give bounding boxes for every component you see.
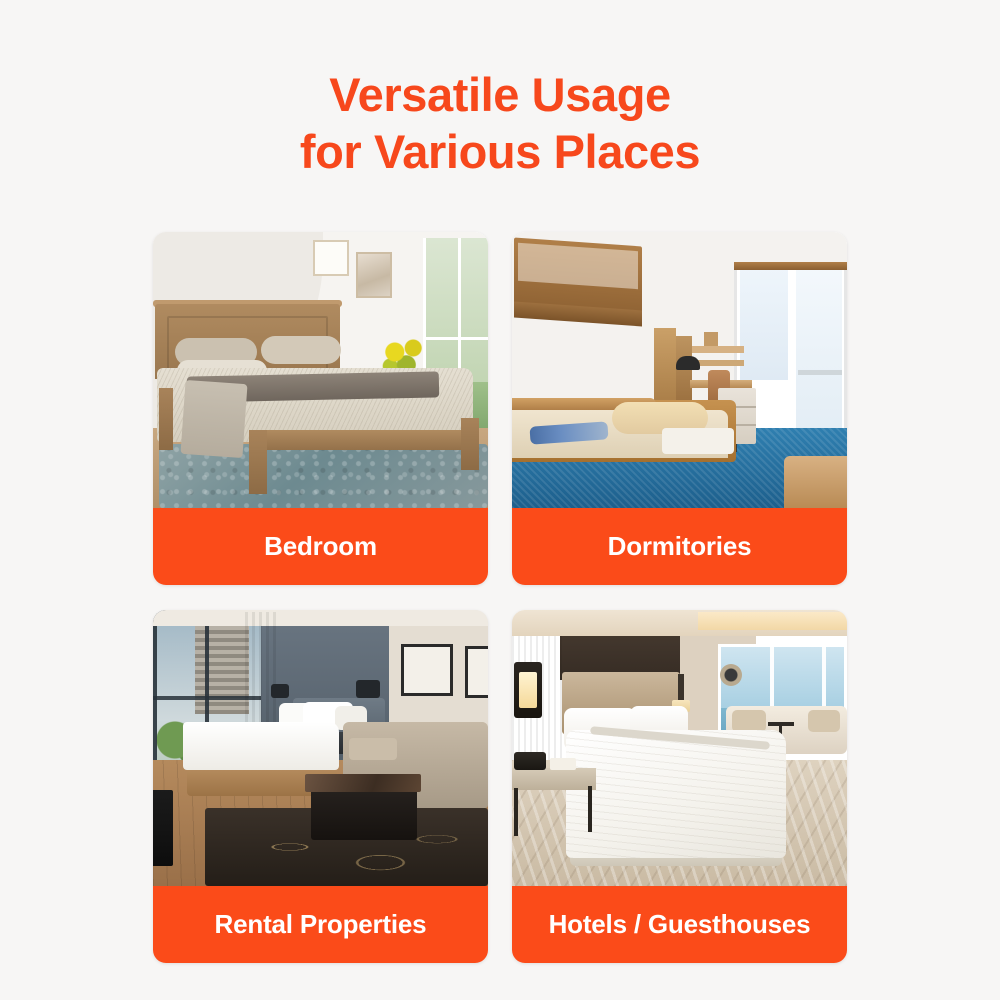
- sheet-shape: [662, 428, 734, 454]
- throw-drape-shape: [180, 380, 247, 458]
- balcony-rail-shape: [798, 370, 842, 375]
- nightstand-leg-2: [588, 786, 592, 832]
- nightstand-leg-1: [514, 788, 518, 836]
- desk-shelf-1: [692, 346, 744, 353]
- card-label-hotels-guesthouses: Hotels / Guesthouses: [549, 909, 811, 940]
- second-bed-shape: [784, 456, 847, 508]
- card-label-bar-rental-properties: Rental Properties: [153, 886, 488, 963]
- ceiling-shape: [153, 610, 488, 626]
- window-glass-shape: [740, 268, 788, 380]
- tv-cabinet-shape: [153, 790, 173, 866]
- bedding-shape: [183, 722, 339, 770]
- lamp-shade-right: [356, 680, 380, 698]
- sofa-cushion-1: [732, 710, 766, 732]
- desk-shelf-2: [698, 360, 744, 366]
- framed-art-2: [356, 252, 392, 298]
- bed-rail-shape: [249, 430, 479, 450]
- bed-leg-front: [249, 430, 267, 494]
- window-valance-shape: [734, 262, 847, 270]
- usage-card-bedroom[interactable]: Bedroom: [153, 232, 488, 585]
- nightstand-shape: [512, 768, 596, 790]
- framed-art-1: [313, 240, 349, 276]
- hotels-guesthouses-photo: [512, 610, 847, 886]
- sofa-cushion-shape: [349, 738, 397, 760]
- bedding-shape: [566, 730, 786, 858]
- card-label-bar-bedroom: Bedroom: [153, 508, 488, 585]
- page-title-line-2: for Various Places: [0, 123, 1000, 180]
- coffee-table-top: [305, 774, 421, 792]
- card-label-dormitories: Dormitories: [608, 531, 752, 562]
- card-label-rental-properties: Rental Properties: [215, 909, 427, 940]
- usage-card-dormitories[interactable]: Dormitories: [512, 232, 847, 585]
- usage-card-rental-properties[interactable]: Rental Properties: [153, 610, 488, 963]
- dormitories-photo: [512, 232, 847, 508]
- wall-clock-shape: [720, 664, 742, 686]
- desk-lamp-shape: [676, 356, 700, 370]
- balcony-door-shape: [796, 268, 842, 434]
- ceiling-cove-light-shape: [698, 612, 847, 630]
- lantern-glow-shape: [519, 672, 537, 708]
- framed-art-2: [465, 646, 488, 698]
- page-title: Versatile Usage for Various Places: [0, 66, 1000, 180]
- desk-hutch-panel-1: [654, 328, 676, 408]
- bedroom-photo: [153, 232, 488, 508]
- bed-leg-right: [461, 418, 479, 470]
- desk-box-shape: [704, 332, 718, 346]
- rental-properties-photo: [153, 610, 488, 886]
- framed-art-1: [401, 644, 453, 696]
- usage-card-hotels-guesthouses[interactable]: Hotels / Guesthouses: [512, 610, 847, 963]
- card-label-bar-dormitories: Dormitories: [512, 508, 847, 585]
- usage-card-grid: Bedroom: [153, 232, 847, 955]
- bed-leg-left: [159, 388, 173, 450]
- card-label-bedroom: Bedroom: [264, 531, 377, 562]
- telephone-shape: [514, 752, 546, 770]
- pillow-2: [261, 336, 341, 364]
- lamp-shade-left: [271, 684, 289, 698]
- sofa-cushion-2: [808, 710, 840, 732]
- notepad-shape: [550, 758, 576, 770]
- page-title-line-1: Versatile Usage: [0, 66, 1000, 123]
- card-label-bar-hotels-guesthouses: Hotels / Guesthouses: [512, 886, 847, 963]
